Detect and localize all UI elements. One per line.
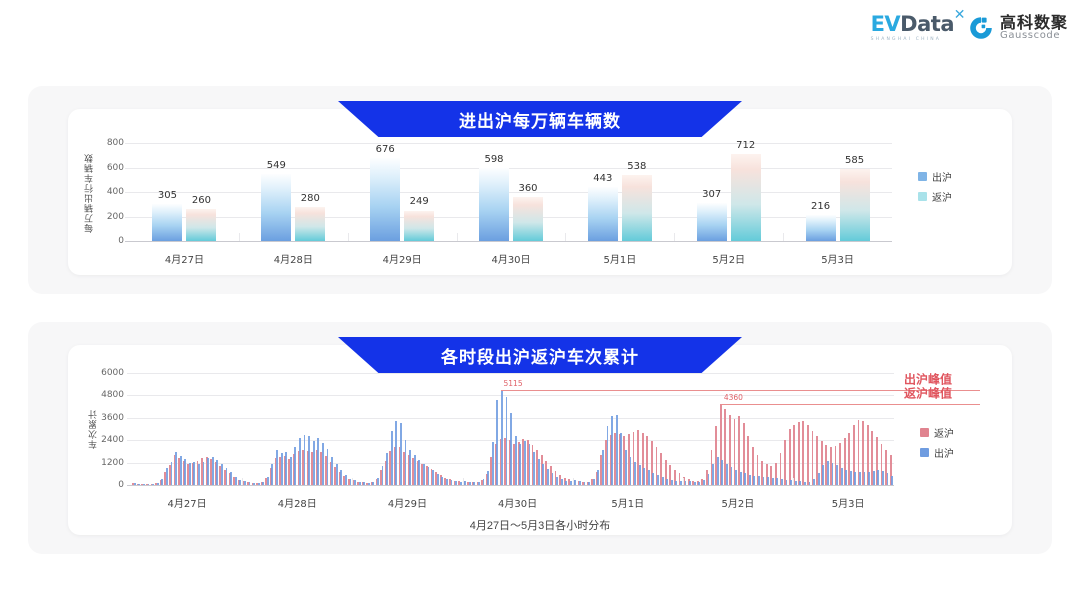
chart1-category-separator [457, 233, 458, 241]
hourly-bar-depart [414, 455, 416, 485]
bar-出沪-5月1日 [588, 187, 618, 241]
hourly-bar-depart [533, 452, 535, 485]
hourly-bar-depart [744, 473, 746, 485]
hourly-bar-depart [753, 476, 755, 485]
legend-label: 返沪 [934, 425, 954, 440]
bar-value-label: 280 [301, 193, 320, 204]
hourly-bar-depart [483, 479, 485, 485]
chart2-day-separator [793, 478, 794, 485]
hourly-bar-depart [460, 482, 462, 485]
hourly-bar-depart [611, 416, 613, 485]
bar-value-label: 712 [736, 140, 755, 151]
hourly-bar-depart [253, 483, 255, 485]
bar-value-label: 307 [702, 189, 721, 200]
bar-返沪-5月3日 [840, 169, 870, 241]
chart1-legend-item-出沪[interactable]: 出沪 [918, 169, 952, 184]
hourly-bar-depart [680, 481, 682, 485]
hourly-bar-depart [304, 435, 306, 485]
gausscode-mark-icon [968, 15, 994, 41]
hourly-bar-depart [487, 471, 489, 485]
hourly-bar-depart [809, 482, 811, 485]
chart2-x-axis-caption: 4月27日～5月3日各小时分布 [470, 517, 611, 533]
hourly-bar-depart [625, 450, 627, 485]
hourly-bar-depart [281, 453, 283, 485]
evdata-logo-data: Data [900, 12, 954, 36]
chart1-x-tick: 5月3日 [821, 251, 854, 266]
hourly-bar-depart [630, 457, 632, 485]
hourly-bar-depart [790, 480, 792, 485]
hourly-bar-depart [579, 481, 581, 485]
hourly-bar-depart [854, 472, 856, 485]
hourly-bar-depart [519, 444, 521, 485]
hourly-bar-depart [795, 481, 797, 485]
chart2-day-separator [573, 478, 574, 485]
reference-label-返沪峰值: 返沪峰值 [904, 384, 952, 401]
hourly-bar-depart [662, 477, 664, 485]
chart1-x-tick: 5月2日 [712, 251, 745, 266]
chart1-category-separator [239, 233, 240, 241]
chart2-y-tick: 2400 [88, 435, 124, 445]
chart1-x-axis [125, 241, 892, 242]
hourly-bar-depart [556, 477, 558, 485]
hourly-bar-depart [308, 436, 310, 485]
chart2-day-separator [352, 478, 353, 485]
hourly-bar-depart [492, 442, 494, 485]
chart2-x-tick: 4月28日 [278, 495, 317, 510]
hourly-bar-depart [538, 459, 540, 485]
hourly-bar-depart [597, 470, 599, 485]
hourly-bar-depart [409, 450, 411, 485]
hourly-bar-depart [827, 461, 829, 485]
bar-返沪-4月29日 [404, 211, 434, 242]
hourly-bar-depart [322, 443, 324, 485]
hourly-bar-depart [441, 477, 443, 485]
hourly-bar-depart [258, 483, 260, 485]
hourly-bar-depart [138, 484, 140, 485]
hourly-bar-depart [607, 426, 609, 485]
chart-hourly-trips: 车次累计0120024003600480060004月27日4月28日4月29日… [68, 345, 1012, 535]
hourly-bar-depart [400, 423, 402, 485]
hourly-bar-depart [285, 452, 287, 485]
evdata-logo-ev: EV [871, 12, 901, 36]
hourly-bar-depart [193, 462, 195, 485]
hourly-bar-depart [524, 441, 526, 485]
hourly-bar-depart [767, 477, 769, 485]
hourly-bar-depart [570, 481, 572, 485]
hourly-bar-depart [850, 471, 852, 485]
legend-swatch-出沪 [918, 172, 927, 181]
bar-返沪-4月30日 [513, 197, 543, 241]
bar-返沪-5月2日 [731, 154, 761, 241]
hourly-bar-depart [804, 482, 806, 485]
chart2-legend-item-出沪[interactable]: 出沪 [920, 445, 954, 460]
hourly-bar-return [784, 440, 786, 485]
hourly-bar-depart [735, 470, 737, 485]
hourly-bar-depart [226, 468, 228, 485]
chart2-x-tick: 4月30日 [498, 495, 537, 510]
hourly-bar-depart [221, 464, 223, 485]
hourly-bar-depart [708, 474, 710, 485]
hourly-bar-depart [639, 465, 641, 485]
hourly-bar-depart [294, 447, 296, 485]
hourly-bar-depart [235, 477, 237, 485]
hourly-bar-depart [271, 464, 273, 485]
hourly-bar-depart [648, 470, 650, 485]
hourly-bar-depart [405, 440, 407, 485]
evdata-logo: EVData ✕ SHANGHAI CHINA [871, 14, 954, 43]
hourly-bar-depart [161, 479, 163, 485]
gausscode-logo: 高科数聚 Gausscode [968, 15, 1068, 42]
hourly-bar-depart [350, 479, 352, 485]
hourly-bar-depart [634, 462, 636, 485]
chart1-category-separator [674, 233, 675, 241]
hourly-bar-depart [671, 480, 673, 485]
hourly-bar-depart [864, 472, 866, 485]
hourly-bar-depart [317, 438, 319, 485]
hourly-bar-depart [473, 482, 475, 485]
hourly-bar-depart [184, 459, 186, 485]
hourly-bar-depart [565, 481, 567, 485]
hourly-bar-depart [818, 473, 820, 485]
bar-value-label: 443 [593, 173, 612, 184]
chart1-y-tick: 400 [90, 187, 124, 197]
chart2-y-tick: 1200 [88, 458, 124, 468]
hourly-bar-depart [446, 479, 448, 485]
reference-line-返沪峰值 [721, 404, 980, 405]
hourly-bar-depart [432, 470, 434, 485]
bar-value-label: 598 [484, 154, 503, 165]
hourly-bar-depart [455, 481, 457, 485]
hourly-bar-depart [666, 479, 668, 485]
bar-value-label: 305 [158, 190, 177, 201]
hourly-bar-depart [239, 480, 241, 485]
hourly-bar-depart [703, 480, 705, 485]
hourly-bar-depart [731, 467, 733, 485]
hourly-bar-depart [561, 479, 563, 485]
chart1-y-tick: 800 [90, 138, 124, 148]
chart2-y-tick: 6000 [88, 368, 124, 378]
panel-vehicle-counts: 进出沪每万辆车辆数 每万辆出行车辆数02004006008004月27日3052… [28, 86, 1052, 294]
chart2-gridline [127, 373, 894, 374]
hourly-bar-depart [157, 483, 159, 485]
hourly-bar-depart [336, 464, 338, 485]
reference-value-出沪峰值: 5115 [504, 379, 523, 388]
hourly-bar-depart [290, 457, 292, 485]
gausscode-en: Gausscode [1000, 31, 1068, 42]
bar-出沪-4月27日 [152, 204, 182, 241]
chart1-category-separator [783, 233, 784, 241]
legend-label: 出沪 [932, 169, 952, 184]
chart2-y-tick: 3600 [88, 413, 124, 423]
hourly-bar-depart [180, 456, 182, 485]
hourly-bar-depart [721, 460, 723, 485]
hourly-bar-depart [781, 479, 783, 485]
hourly-bar-depart [547, 469, 549, 485]
hourly-bar-depart [175, 452, 177, 485]
chart2-x-tick: 5月2日 [722, 495, 755, 510]
legend-swatch-返沪 [918, 192, 927, 201]
chart2-legend: 返沪出沪 [920, 425, 954, 460]
bar-value-label: 585 [845, 155, 864, 166]
hourly-bar-depart [620, 433, 622, 485]
hourly-bar-depart [652, 473, 654, 485]
chart1-y-tick: 200 [90, 212, 124, 222]
bar-value-label: 549 [267, 160, 286, 171]
hourly-bar-depart [685, 481, 687, 485]
chart2-legend-item-返沪[interactable]: 返沪 [920, 425, 954, 440]
chart1-gridline [125, 143, 892, 144]
hourly-bar-return [798, 422, 800, 485]
hourly-bar-depart [882, 471, 884, 485]
hourly-bar-depart [428, 467, 430, 485]
hourly-bar-depart [602, 450, 604, 485]
hourly-bar-depart [377, 478, 379, 485]
hourly-bar-depart [143, 484, 145, 485]
card-hourly-trips: 各时段出沪返沪车次累计 车次累计0120024003600480060004月2… [68, 345, 1012, 535]
hourly-bar-depart [717, 457, 719, 485]
hourly-bar-depart [391, 431, 393, 485]
hourly-bar-depart [478, 482, 480, 485]
evdata-logo-sub: SHANGHAI CHINA [871, 38, 942, 43]
hourly-bar-depart [267, 477, 269, 485]
hourly-bar-depart [451, 480, 453, 485]
chart2-x-axis [127, 485, 894, 486]
hourly-bar-depart [171, 462, 173, 485]
chart2-x-tick: 5月3日 [832, 495, 865, 510]
hourly-bar-depart [189, 463, 191, 485]
hourly-bar-depart [501, 390, 503, 485]
hourly-bar-depart [657, 475, 659, 485]
hourly-bar-depart [740, 472, 742, 485]
chart1-category-separator [565, 233, 566, 241]
hourly-bar-depart [262, 482, 264, 485]
chart2-y-tick: 0 [88, 480, 124, 490]
chart1-title-banner: 进出沪每万辆车辆数 [338, 101, 742, 137]
bar-出沪-4月28日 [261, 174, 291, 241]
chart2-x-tick: 4月29日 [388, 495, 427, 510]
hourly-bar-depart [249, 482, 251, 485]
hourly-bar-depart [799, 481, 801, 485]
legend-label: 返沪 [932, 189, 952, 204]
hourly-bar-depart [845, 470, 847, 485]
hourly-bar-depart [299, 438, 301, 485]
hourly-bar-depart [689, 481, 691, 485]
hourly-bar-depart [216, 460, 218, 485]
bar-出沪-5月3日 [806, 215, 836, 241]
bar-value-label: 260 [192, 195, 211, 206]
hourly-bar-depart [891, 476, 893, 485]
hourly-bar-depart [345, 475, 347, 485]
reference-value-返沪峰值: 4360 [724, 393, 743, 402]
hourly-bar-depart [506, 397, 508, 485]
hourly-bar-depart [515, 436, 517, 485]
chart1-x-tick: 4月28日 [274, 251, 313, 266]
hourly-bar-depart [529, 444, 531, 485]
bar-出沪-5月2日 [697, 203, 727, 241]
chart2-title-banner: 各时段出沪返沪车次累计 [338, 337, 742, 373]
hourly-bar-depart [574, 480, 576, 485]
hourly-bar-depart [772, 478, 774, 485]
chart1-legend-item-返沪[interactable]: 返沪 [918, 189, 952, 204]
chart1-x-tick: 4月29日 [383, 251, 422, 266]
hourly-bar-depart [437, 474, 439, 485]
hourly-bar-depart [749, 475, 751, 485]
hourly-bar-depart [726, 464, 728, 485]
chart2-gridline [127, 395, 894, 396]
hourly-bar-depart [822, 465, 824, 485]
chart1-y-tick: 0 [90, 236, 124, 246]
hourly-bar-depart [813, 479, 815, 485]
hourly-bar-depart [354, 480, 356, 485]
gausscode-cn: 高科数聚 [1000, 15, 1068, 32]
chart2-y-tick: 4800 [88, 390, 124, 400]
chart2-day-separator [242, 478, 243, 485]
evdata-wordmark: EVData ✕ [871, 14, 954, 35]
hourly-bar-depart [584, 482, 586, 485]
chart1-x-tick: 5月1日 [603, 251, 636, 266]
hourly-bar-return [802, 421, 804, 485]
hourly-bar-depart [776, 478, 778, 485]
panel-hourly-trips: 各时段出沪返沪车次累计 车次累计0120024003600480060004月2… [28, 322, 1052, 554]
hourly-bar-depart [675, 481, 677, 485]
logo-bar: EVData ✕ SHANGHAI CHINA 高科数聚 Gausscode [871, 14, 1068, 43]
hourly-bar-depart [841, 468, 843, 485]
chart1-legend: 出沪返沪 [918, 169, 952, 204]
hourly-bar-depart [244, 481, 246, 485]
dashboard-root: EVData ✕ SHANGHAI CHINA 高科数聚 Gausscode 进… [0, 0, 1080, 608]
chart1-category-separator [348, 233, 349, 241]
hourly-bar-depart [593, 479, 595, 485]
hourly-bar-depart [763, 477, 765, 485]
bar-返沪-4月28日 [295, 207, 325, 241]
hourly-bar-return [812, 431, 814, 485]
hourly-bar-depart [496, 400, 498, 485]
hourly-bar-return [807, 425, 809, 485]
hourly-bar-depart [395, 421, 397, 485]
hourly-bar-depart [588, 482, 590, 485]
hourly-bar-depart [368, 483, 370, 485]
hourly-bar-depart [148, 484, 150, 485]
hourly-bar-depart [313, 441, 315, 485]
hourly-bar-depart [698, 482, 700, 485]
hourly-bar-depart [134, 483, 136, 485]
hourly-bar-depart [382, 466, 384, 485]
x-superscript-icon: ✕ [954, 8, 965, 22]
hourly-bar-depart [643, 468, 645, 485]
hourly-bar-depart [786, 480, 788, 485]
hourly-bar-depart [464, 481, 466, 485]
card-vehicle-counts: 进出沪每万辆车辆数 每万辆出行车辆数02004006008004月27日3052… [68, 109, 1012, 275]
hourly-bar-depart [152, 484, 154, 485]
bar-value-label: 216 [811, 201, 830, 212]
hourly-bar-depart [712, 464, 714, 485]
hourly-bar-depart [877, 470, 879, 485]
bar-出沪-4月29日 [370, 158, 400, 241]
hourly-bar-depart [386, 453, 388, 485]
hourly-bar-depart [166, 468, 168, 485]
hourly-bar-depart [552, 473, 554, 485]
hourly-bar-depart [758, 476, 760, 485]
hourly-bar-depart [203, 462, 205, 485]
chart2-x-tick: 4月27日 [168, 495, 207, 510]
hourly-bar-depart [873, 471, 875, 485]
hourly-bar-depart [832, 463, 834, 485]
chart2-day-separator [463, 478, 464, 485]
hourly-bar-depart [372, 482, 374, 485]
hourly-bar-depart [423, 464, 425, 485]
chart1-x-tick: 4月30日 [491, 251, 530, 266]
legend-swatch-返沪 [920, 428, 929, 437]
hourly-bar-depart [340, 470, 342, 485]
hourly-bar-depart [868, 472, 870, 485]
hourly-bar-depart [418, 460, 420, 485]
hourly-bar-depart [331, 457, 333, 485]
hourly-bar-return [793, 425, 795, 485]
chart2-day-separator [683, 478, 684, 485]
hourly-bar-depart [363, 482, 365, 485]
hourly-bar-return [789, 429, 791, 485]
legend-label: 出沪 [934, 445, 954, 460]
hourly-bar-depart [327, 449, 329, 485]
hourly-bar-depart [207, 458, 209, 485]
hourly-bar-depart [469, 482, 471, 485]
hourly-bar-depart [859, 472, 861, 485]
hourly-bar-depart [542, 464, 544, 485]
hourly-bar-depart [276, 450, 278, 485]
hourly-bar-depart [198, 464, 200, 485]
bar-返沪-4月27日 [186, 209, 216, 241]
bar-value-label: 249 [410, 196, 429, 207]
chart2-x-tick: 5月1日 [611, 495, 644, 510]
legend-swatch-出沪 [920, 448, 929, 457]
bar-value-label: 360 [518, 183, 537, 194]
bar-返沪-5月1日 [622, 175, 652, 241]
hourly-bar-depart [836, 465, 838, 485]
hourly-bar-depart [230, 472, 232, 485]
chart1-y-tick: 600 [90, 163, 124, 173]
bar-value-label: 676 [376, 144, 395, 155]
hourly-bar-depart [359, 482, 361, 485]
hourly-bar-depart [616, 415, 618, 485]
gausscode-text: 高科数聚 Gausscode [1000, 15, 1068, 42]
bar-出沪-4月30日 [479, 168, 509, 241]
hourly-bar-depart [694, 482, 696, 485]
hourly-bar-depart [212, 457, 214, 485]
hourly-bar-depart [887, 473, 889, 485]
bar-value-label: 538 [627, 161, 646, 172]
chart1-x-tick: 4月27日 [165, 251, 204, 266]
hourly-bar-depart [510, 413, 512, 485]
